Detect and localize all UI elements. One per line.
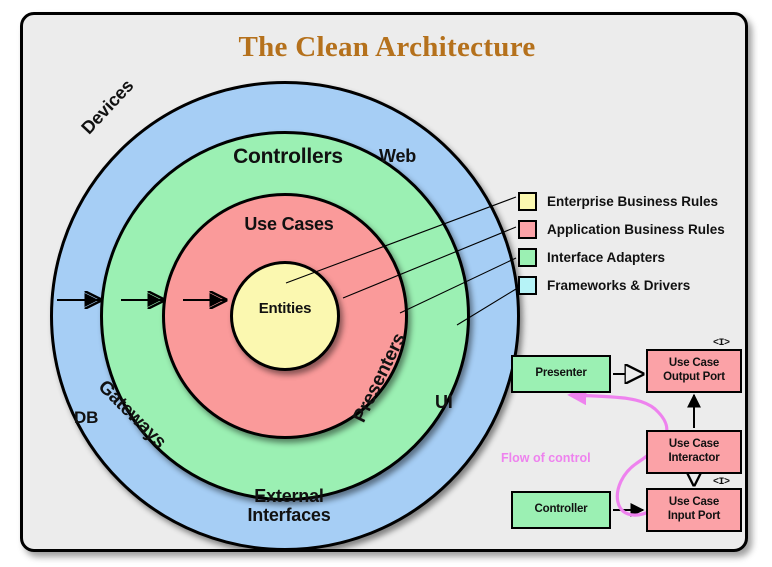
page-title: The Clean Architecture <box>23 31 748 64</box>
node-presenter[interactable]: Presenter <box>511 355 611 393</box>
label-external-interfaces: External Interfaces <box>209 487 369 525</box>
legend-label-application-business-rules: Application Business Rules <box>547 222 725 237</box>
label-web: Web <box>379 147 416 166</box>
label-devices: Devices <box>78 76 137 138</box>
legend-item-frameworks-and-drivers: Frameworks & Drivers <box>518 271 743 299</box>
legend-label-frameworks-and-drivers: Frameworks & Drivers <box>547 278 690 293</box>
diagram-panel: The Clean Architecture Controllers Use C… <box>20 12 748 552</box>
legend-swatch-interface-adapters <box>518 248 537 267</box>
label-external-line2: Interfaces <box>247 505 330 525</box>
legend-label-enterprise-business-rules: Enterprise Business Rules <box>547 194 718 209</box>
node-output-line2: Output Port <box>663 371 725 383</box>
legend-swatch-frameworks-and-drivers <box>518 276 537 295</box>
node-use-case-input-port[interactable]: Use Case Input Port <box>646 488 742 532</box>
legend-swatch-application-business-rules <box>518 220 537 239</box>
label-external-line1: External <box>254 486 323 506</box>
label-use-cases: Use Cases <box>219 215 359 234</box>
node-controller[interactable]: Controller <box>511 491 611 529</box>
label-ui: UI <box>435 393 453 412</box>
node-output-line1: Use Case <box>669 357 719 369</box>
legend-item-application-business-rules: Application Business Rules <box>518 215 743 243</box>
legend-swatch-enterprise-business-rules <box>518 192 537 211</box>
legend: Enterprise Business Rules Application Bu… <box>518 187 743 299</box>
node-use-case-interactor[interactable]: Use Case Interactor <box>646 430 742 474</box>
interface-tag-input-port: <I> <box>713 477 730 488</box>
interface-tag-output-port: <I> <box>713 338 730 349</box>
flow-of-control-diagram: Presenter Controller Use Case Output Por… <box>491 333 748 548</box>
legend-item-interface-adapters: Interface Adapters <box>518 243 743 271</box>
flow-of-control-label: Flow of control <box>501 451 591 465</box>
legend-label-interface-adapters: Interface Adapters <box>547 250 665 265</box>
legend-item-enterprise-business-rules: Enterprise Business Rules <box>518 187 743 215</box>
diagram-stage: The Clean Architecture Controllers Use C… <box>0 0 772 567</box>
node-interactor-line2: Interactor <box>668 452 719 464</box>
label-controllers: Controllers <box>208 146 368 168</box>
label-db: DB <box>74 409 98 427</box>
node-input-line1: Use Case <box>669 496 719 508</box>
label-entities: Entities <box>230 301 340 317</box>
node-input-line2: Input Port <box>668 510 720 522</box>
node-interactor-line1: Use Case <box>669 438 719 450</box>
node-use-case-output-port[interactable]: Use Case Output Port <box>646 349 742 393</box>
